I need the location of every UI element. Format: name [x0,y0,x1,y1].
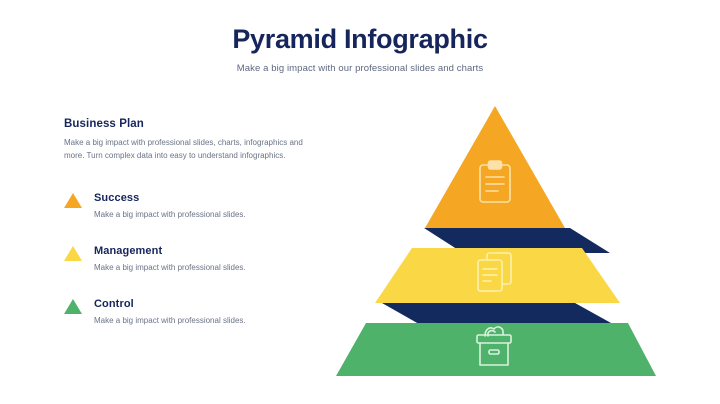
pyramid-diagram [320,95,700,395]
pyramid-level-management[interactable] [375,248,620,303]
pyramid-svg [320,95,700,395]
list-item-control[interactable]: Control Make a big impact with professio… [64,298,314,328]
header: Pyramid Infographic Make a big impact wi… [0,22,720,76]
pyramid-level-control[interactable] [336,323,656,376]
list-item-management[interactable]: Management Make a big impact with profes… [64,245,314,275]
list-item-description: Make a big impact with professional slid… [94,262,314,274]
item-list: Success Make a big impact with professio… [64,192,314,328]
triangle-icon [64,246,82,261]
infographic-slide: Pyramid Infographic Make a big impact wi… [0,0,720,404]
content-column: Business Plan Make a big impact with pro… [64,118,314,328]
page-title: Pyramid Infographic [0,22,720,56]
triangle-icon [64,193,82,208]
list-item-description: Make a big impact with professional slid… [94,315,314,327]
list-item-success[interactable]: Success Make a big impact with professio… [64,192,314,222]
pyramid-level-success[interactable] [425,106,565,228]
list-item-title: Success [94,192,314,204]
intro-block: Business Plan Make a big impact with pro… [64,118,314,162]
list-item-title: Management [94,245,314,257]
intro-heading: Business Plan [64,118,314,130]
triangle-icon [64,299,82,314]
page-subtitle: Make a big impact with our professional … [0,62,720,76]
intro-body: Make a big impact with professional slid… [64,137,304,162]
list-item-description: Make a big impact with professional slid… [94,209,314,221]
list-item-title: Control [94,298,314,310]
